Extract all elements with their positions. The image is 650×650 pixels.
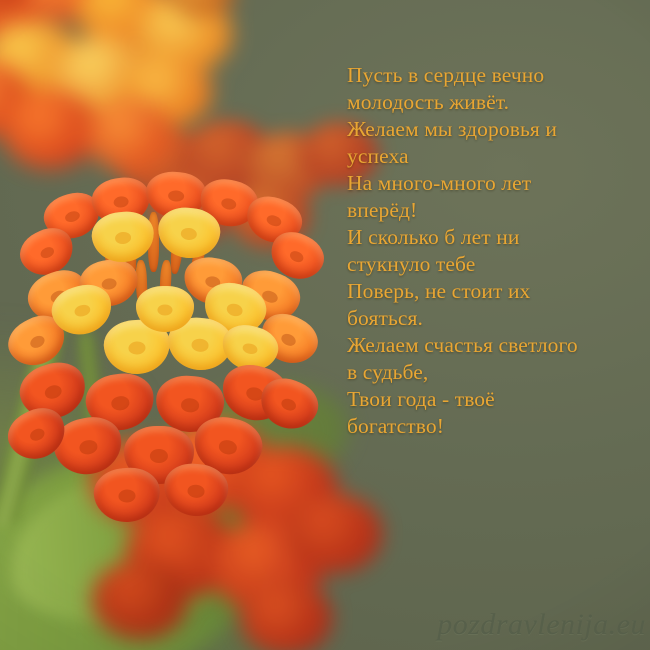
poem-line: Пусть в сердце вечно	[347, 62, 637, 89]
bokeh-floret	[286, 494, 382, 573]
bokeh-floret	[86, 100, 174, 172]
poem-line: Твои года - твоё	[347, 386, 637, 413]
bokeh-floret	[126, 506, 238, 598]
bokeh-floret	[136, 0, 232, 73]
poem-line: И сколько б лет ни	[347, 224, 637, 251]
bokeh-floret	[2, 90, 98, 169]
poem-text: Пусть в сердце вечномолодость живёт.Жела…	[347, 62, 637, 440]
poem-line: стукнуло тебе	[347, 251, 637, 278]
poem-line: молодость живёт.	[347, 89, 637, 116]
bokeh-floret	[75, 0, 167, 47]
poem-line: в судьбе,	[347, 359, 637, 386]
bokeh-floret	[0, 0, 30, 9]
poem-line: Желаем счастья светлого	[347, 332, 637, 359]
bokeh-floret	[210, 520, 324, 613]
greeting-card: Пусть в сердце вечномолодость живёт.Жела…	[0, 0, 650, 650]
bokeh-floret	[165, 0, 235, 17]
poem-line: бояться.	[347, 305, 637, 332]
bokeh-floret	[92, 560, 188, 639]
blurred-flower-cluster	[0, 0, 240, 180]
bokeh-floret	[52, 36, 152, 118]
bokeh-floret	[18, 0, 104, 21]
poem-line: На много-много лет	[347, 170, 637, 197]
bokeh-floret	[0, 62, 30, 136]
watermark: pozdravlenija.eu	[437, 608, 646, 642]
poem-line: Поверь, не стоит их	[347, 278, 637, 305]
bokeh-floret	[0, 0, 46, 39]
poem-line: Желаем мы здоровья и	[347, 116, 637, 143]
poem-line: успеха	[347, 143, 637, 170]
poem-line: вперёд!	[347, 197, 637, 224]
bokeh-floret	[240, 580, 332, 650]
lantana-flower-head	[8, 168, 324, 480]
bokeh-floret	[0, 20, 84, 105]
floret-orange	[92, 466, 162, 524]
poem-line: богатство!	[347, 413, 637, 440]
bokeh-floret	[120, 54, 212, 129]
